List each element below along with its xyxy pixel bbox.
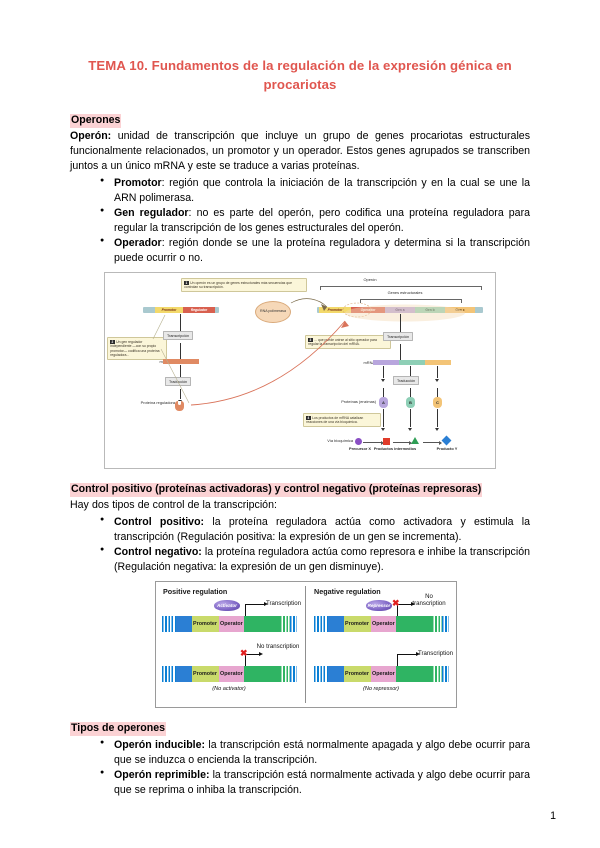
positive-bottom-arrow	[253, 654, 260, 655]
proteins-enzymes-label: Proteínas (enzimas)	[310, 400, 376, 405]
positive-no-transcription-label: No transcription	[256, 643, 300, 650]
repressor-label: Repressor	[368, 603, 391, 608]
negative-dna-strand-top: Promoter Operator	[314, 616, 449, 632]
section-heading-control: Control positivo (proteínas activadoras)…	[70, 483, 482, 497]
bullet-sep: :	[189, 207, 197, 219]
callout-1: 1Un operón es un grupo de genes estructu…	[181, 278, 307, 292]
bullet-term: Promotor	[114, 177, 162, 189]
operon-dna-strand: Promotor Operador Gen a Gen b Gen c	[317, 307, 483, 313]
precursor-shape	[355, 438, 362, 445]
intermediates-label: Productos intermedios	[373, 447, 417, 452]
activator-label: Activator	[217, 603, 237, 608]
callout-text: ... que puede unirse al sitio operador p…	[308, 338, 377, 346]
x-mark-icon: ✖	[392, 599, 400, 608]
callout-2: 2Un gen regulador independiente —con su …	[107, 337, 167, 360]
list-item: Control positivo: la proteína reguladora…	[100, 515, 530, 545]
gene-fade-block	[280, 666, 290, 682]
regulatory-protein-label: Proteína reguladora	[133, 401, 175, 406]
negative-regulation-title: Negative regulation	[314, 587, 381, 596]
gene-fade-block	[280, 616, 290, 632]
positive-transcription-stem	[245, 604, 246, 616]
right-mrna-seg-a	[373, 360, 399, 365]
right-transcription-arrow	[400, 314, 401, 332]
regulatory-protein-shape	[175, 401, 184, 411]
enzyme-c: C	[433, 397, 442, 408]
bullet-term: Control negativo:	[114, 546, 202, 558]
dna-blue-block	[328, 666, 344, 682]
enzyme-b-to-pathway-arrow	[410, 409, 411, 427]
list-item: Control negativo: la proteína reguladora…	[100, 545, 530, 575]
bullet-term: Operón inducible:	[114, 739, 205, 751]
bullet-sep: :	[162, 177, 169, 189]
enzyme-a: A	[379, 397, 388, 408]
negative-bottom-stem	[397, 654, 398, 666]
left-transcription-arrow	[180, 314, 181, 331]
callout-text: Los productos de mRNA catalizan reaccion…	[306, 416, 363, 424]
pathway-arrow-2	[393, 442, 409, 443]
bullet-term: Control positivo:	[114, 516, 204, 528]
bullet-term: Gen regulador	[114, 207, 189, 219]
bullet-text: región donde se une la proteína regulado…	[114, 237, 530, 264]
left-mrna-bar	[163, 359, 199, 364]
positive-regulation-title: Positive regulation	[163, 587, 227, 596]
promoter-label-bottom-left: Promoter	[193, 671, 217, 677]
enzyme-b: B	[406, 397, 415, 408]
document-content: TEMA 10. Fundamentos de la regulación de…	[70, 56, 530, 800]
dna-blue-block	[328, 616, 344, 632]
structural-genes-bracket	[360, 299, 462, 303]
bullet-sep: :	[162, 237, 169, 249]
section-heading-operones: Operones	[70, 114, 121, 128]
dna-blue-block	[176, 666, 192, 682]
to-enzyme-a-arrow	[383, 388, 384, 397]
product-label: Producto Y	[427, 447, 467, 452]
callout-text: Un operón es un grupo de genes estructur…	[184, 281, 292, 289]
translation-arrow-c	[437, 366, 438, 378]
to-enzyme-b-arrow	[410, 388, 411, 397]
right-to-mrna-arrow	[400, 344, 401, 360]
gene-a-segment: Gen a	[385, 307, 415, 313]
right-mrna-seg-c	[425, 360, 451, 365]
positive-dna-strand-bottom: Promoter Operator	[162, 666, 297, 682]
rna-polymerase: RNA polimerasa	[255, 301, 291, 323]
positive-transcription-label: Transcription	[266, 600, 314, 607]
page-number: 1	[550, 810, 556, 822]
positive-transcription-elbow	[245, 604, 256, 605]
enzyme-a-to-pathway-arrow	[383, 409, 384, 427]
gene-fade-block	[432, 616, 442, 632]
list-item: Gen regulador: no es parte del operón, p…	[100, 206, 530, 236]
promoter-label-top-left: Promoter	[193, 621, 217, 627]
right-mrna-seg-b	[399, 360, 425, 365]
tipos-bullet-list: Operón inducible: la transcripción está …	[70, 738, 530, 798]
right-mrna-label: mRNA	[349, 361, 375, 366]
left-translation-step: Traducción	[165, 377, 191, 386]
left-translation-arrow	[180, 365, 181, 377]
intermediate-triangle-shape	[411, 437, 419, 444]
left-to-mrna-arrow	[180, 343, 181, 359]
list-item: Operón reprimible: la transcripción está…	[100, 768, 530, 798]
positive-transcription-arrow	[256, 604, 265, 605]
product-shape	[442, 436, 452, 446]
operator-label-top-left: Operator	[220, 621, 243, 627]
figure-divider	[305, 586, 306, 703]
control-bullet-list: Control positivo: la proteína reguladora…	[70, 515, 530, 575]
pathway-arrow-3	[423, 442, 439, 443]
list-item: Promotor: región que controla la iniciac…	[100, 176, 530, 206]
negative-transcription-label: Transcription	[418, 650, 458, 657]
callout-text: Un gen regulador independiente —con su p…	[110, 340, 159, 357]
enzyme-c-to-pathway-arrow	[437, 409, 438, 427]
dna-blue-block	[176, 616, 192, 632]
right-transcription-step: Transcripción	[383, 332, 413, 341]
left-dna-strand: Promotor Regulador	[143, 307, 219, 313]
no-activator-caption: (No activator)	[194, 686, 264, 692]
section-heading-tipos: Tipos de operones	[70, 722, 166, 736]
page-title: TEMA 10. Fundamentos de la regulación de…	[70, 56, 530, 94]
negative-bottom-elbow	[397, 654, 408, 655]
negative-no-transcription-label: No transcription	[408, 593, 450, 607]
intermediate-square-shape	[383, 438, 390, 445]
gene-block	[396, 616, 432, 632]
pathway-arrow-1	[363, 442, 381, 443]
operon-definition: Operón: unidad de transcripción que incl…	[70, 129, 530, 174]
operon-promoter-segment: Promotor	[319, 307, 351, 313]
pathway-label: Vía bioquímica	[303, 439, 353, 444]
operon-bullet-list: Promotor: región que controla la iniciac…	[70, 176, 530, 266]
repressor-protein: Repressor	[366, 600, 392, 611]
operon-operator-segment: Operador	[351, 307, 385, 313]
operator-label-bottom-right: Operator	[372, 671, 395, 677]
operon-definition-term: Operón:	[70, 130, 111, 142]
activator-protein: Activator	[214, 600, 240, 611]
list-item: Operador: región donde se une la proteín…	[100, 236, 530, 266]
right-translation-step: Traducción	[393, 376, 419, 385]
operator-label-top-right: Operator	[372, 621, 395, 627]
left-promoter-segment: Promotor	[155, 307, 183, 313]
left-transcription-step: Transcripción	[163, 331, 193, 340]
gene-block	[244, 616, 280, 632]
bullet-term: Operón reprimible:	[114, 769, 210, 781]
operator-label-bottom-left: Operator	[220, 671, 243, 677]
negative-dna-strand-bottom: Promoter Operator	[314, 666, 449, 682]
callout-4: 4Los productos de mRNA catalizan reaccio…	[303, 413, 381, 427]
gene-fade-block	[432, 666, 442, 682]
gene-block	[396, 666, 432, 682]
callout-3: 3... que puede unirse al sitio operador …	[305, 335, 391, 349]
positive-dna-strand-top: Promoter Operator	[162, 616, 297, 632]
structural-genes-label: Genes estructurales	[350, 291, 460, 296]
gene-c-segment: Gen c	[445, 307, 475, 313]
left-to-protein-arrow	[180, 389, 181, 399]
bullet-text: región que controla la iniciación de la …	[114, 177, 530, 204]
left-regulator-segment: Regulador	[183, 307, 215, 313]
x-mark-icon: ✖	[240, 649, 248, 658]
translation-arrow-a	[383, 366, 384, 378]
list-item: Operón inducible: la transcripción está …	[100, 738, 530, 768]
gene-block	[244, 666, 280, 682]
figure-operon-diagram: 1Un operón es un grupo de genes estructu…	[104, 272, 496, 469]
promoter-label-top-right: Promoter	[345, 621, 369, 627]
gene-b-segment: Gen b	[415, 307, 445, 313]
to-enzyme-c-arrow	[437, 388, 438, 397]
control-intro: Hay dos tipos de control de la transcrip…	[70, 498, 530, 513]
negative-transcription-arrow	[408, 654, 417, 655]
operon-definition-text: unidad de transcripción que incluye un g…	[70, 130, 530, 172]
bullet-term: Operador	[114, 237, 162, 249]
document-page: TEMA 10. Fundamentos de la regulación de…	[0, 0, 600, 848]
operon-label: Operón	[315, 278, 425, 283]
no-repressor-caption: (No repressor)	[346, 686, 416, 692]
figure-regulation-diagram: Positive regulation Negative regulation …	[155, 581, 457, 708]
promoter-label-bottom-right: Promoter	[345, 671, 369, 677]
